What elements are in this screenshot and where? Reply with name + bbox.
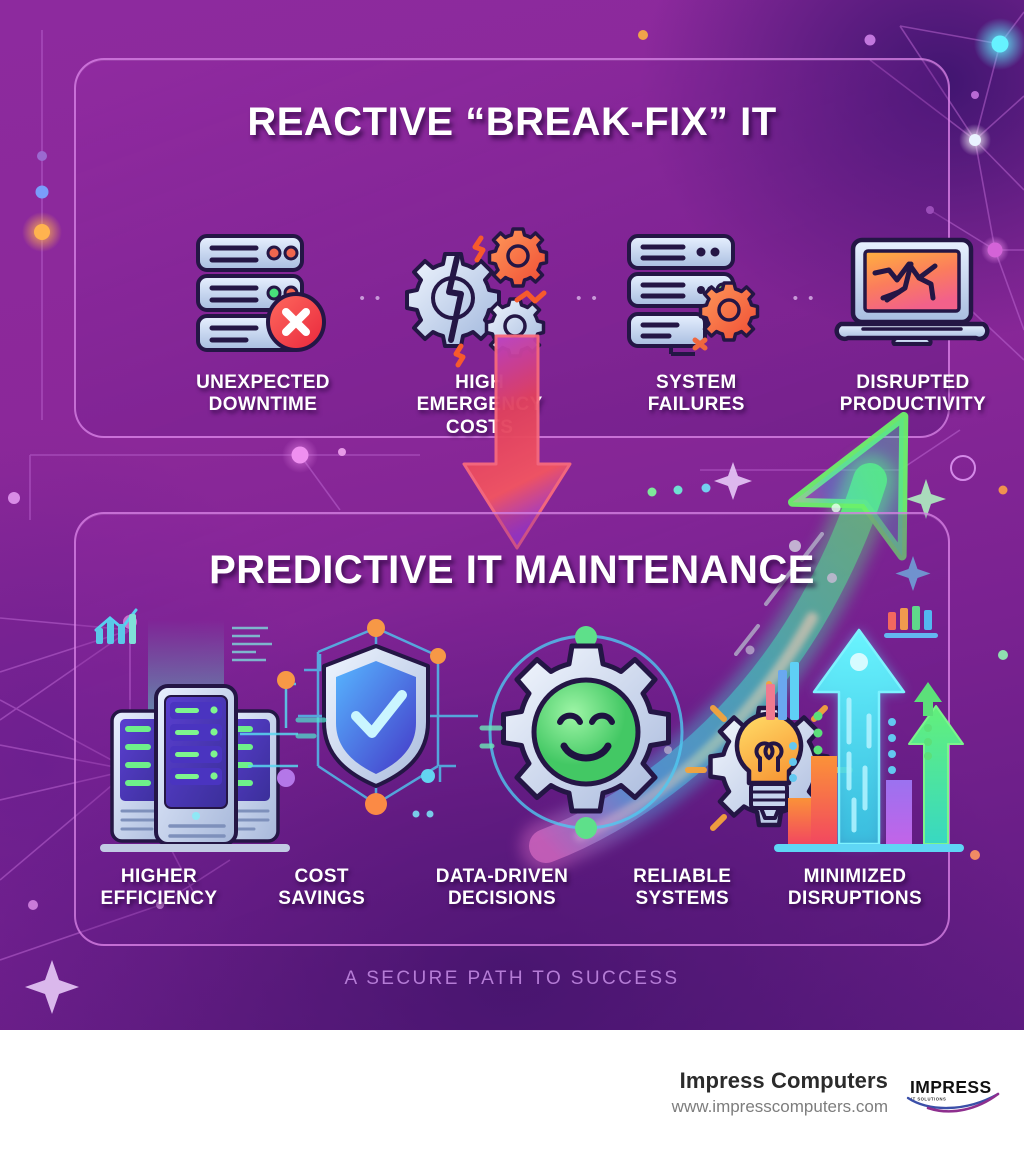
reactive-section-title: REACTIVE “BREAK-FIX” IT [76, 100, 948, 145]
connector-dots-2: • • [576, 290, 600, 307]
reactive-item-disrupted-productivity: DISRUPTED PRODUCTIVITY [818, 228, 1008, 417]
smiling-gear-icon [482, 604, 692, 854]
cracked-laptop-icon [835, 228, 990, 358]
predictive-item-reliable-systems: RELIABLE SYSTEMS [607, 866, 757, 911]
item-label: HIGHER EFFICIENCY [101, 866, 218, 911]
item-label: UNEXPECTED DOWNTIME [196, 372, 330, 417]
predictive-section-title: PREDICTIVE IT MAINTENANCE [0, 548, 1024, 593]
infographic-poster: REACTIVE “BREAK-FIX” IT [0, 0, 1024, 1154]
item-label: SYSTEM FAILURES [648, 372, 745, 417]
server-failure-icon [621, 228, 771, 358]
item-label: RELIABLE SYSTEMS [633, 866, 731, 911]
footer-bar: Impress Computers www.impresscomputers.c… [0, 1030, 1024, 1154]
reactive-item-unexpected-downtime: UNEXPECTED DOWNTIME [168, 228, 358, 417]
reactive-item-system-failures: SYSTEM FAILURES [601, 228, 791, 417]
connector-dots-1: • • [359, 290, 383, 307]
logo-wordmark: IMPRESS [910, 1077, 992, 1097]
shield-check-icon [298, 616, 478, 851]
connector-dots-3: • • [793, 290, 817, 307]
server-error-icon [188, 228, 338, 358]
brand-name: Impress Computers [672, 1068, 888, 1094]
predictive-item-data-driven-decisions: DATA-DRIVEN DECISIONS [410, 866, 595, 911]
brand-website[interactable]: www.impresscomputers.com [672, 1097, 888, 1117]
item-label: DATA-DRIVEN DECISIONS [436, 866, 568, 911]
logo-tagline: IT SOLUTIONS [911, 1097, 946, 1102]
predictive-icons-row [90, 596, 970, 861]
item-label: COST SAVINGS [278, 866, 365, 911]
item-label: MINIMIZED DISRUPTIONS [788, 866, 922, 911]
poster-tagline: A SECURE PATH TO SUCCESS [0, 968, 1024, 990]
predictive-item-minimized-disruptions: MINIMIZED DISRUPTIONS [770, 866, 940, 911]
predictive-item-higher-efficiency: HIGHER EFFICIENCY [84, 866, 234, 911]
item-label: DISRUPTED PRODUCTIVITY [840, 372, 986, 417]
impress-logo: IMPRESS IT SOLUTIONS [906, 1067, 1002, 1117]
footer-text-block: Impress Computers www.impresscomputers.c… [672, 1068, 888, 1117]
predictive-labels-row: HIGHER EFFICIENCY COST SAVINGS DATA-DRIV… [84, 866, 940, 911]
predictive-item-cost-savings: COST SAVINGS [247, 866, 397, 911]
server-racks-icon [90, 606, 300, 856]
reactive-items-row: UNEXPECTED DOWNTIME • • [168, 228, 1008, 439]
growth-chart-icon [766, 604, 976, 854]
